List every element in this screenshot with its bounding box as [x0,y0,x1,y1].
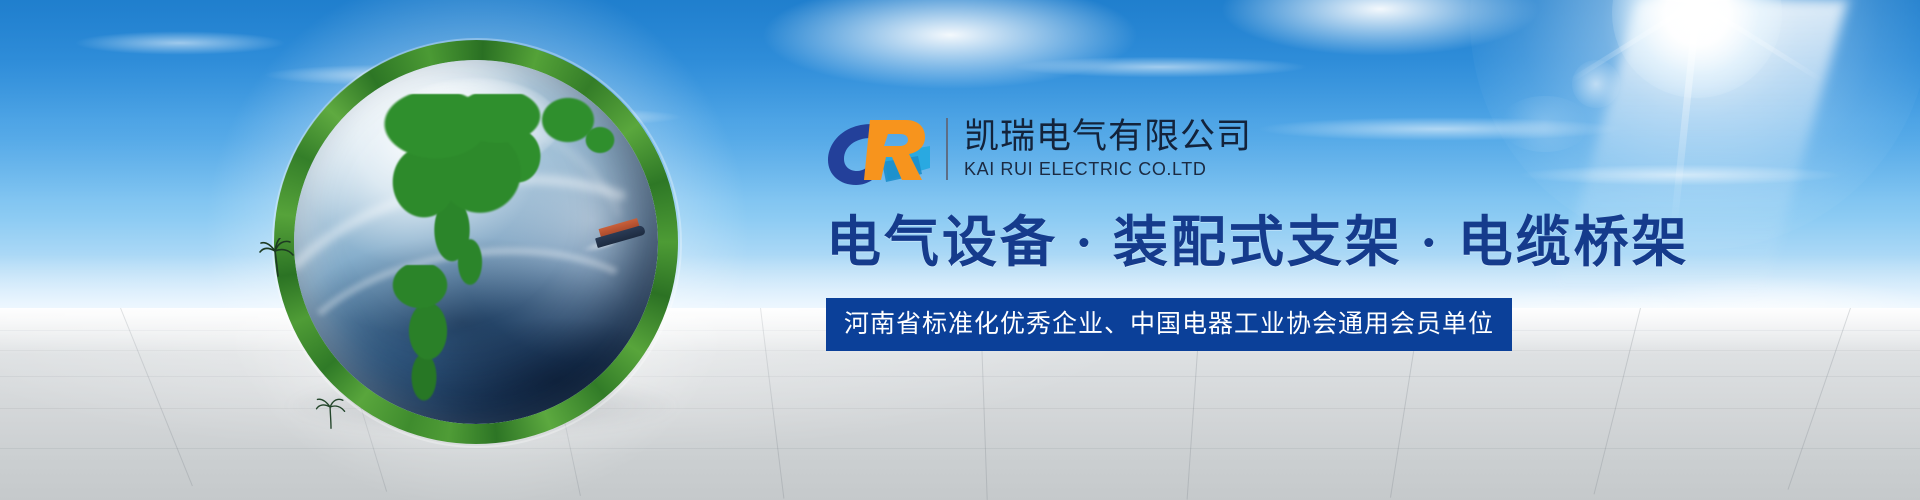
cr-logo-svg [826,112,938,186]
hero-banner: 凯瑞电气有限公司 KAI RUI ELECTRIC CO.LTD 电气设备 · … [0,0,1920,500]
lens-flare-dot [1572,60,1620,108]
banner-content: 凯瑞电气有限公司 KAI RUI ELECTRIC CO.LTD 电气设备 · … [826,110,1846,351]
brand-text-block: 凯瑞电气有限公司 KAI RUI ELECTRIC CO.LTD [964,117,1252,181]
company-name-en: KAI RUI ELECTRIC CO.LTD [964,157,1252,181]
green-earth-globe [262,24,692,454]
company-name-cn: 凯瑞电气有限公司 [964,117,1252,157]
brand-divider [946,118,948,180]
brand-lockup: 凯瑞电气有限公司 KAI RUI ELECTRIC CO.LTD [826,110,1846,188]
globe-rim-light [272,38,682,448]
cr-monogram-logo [826,112,938,186]
slogan-text: 电气设备 · 装配式支架 · 电缆桥架 [826,210,1846,276]
award-badge: 河南省标准化优秀企业、中国电器工业协会通用会员单位 [826,298,1512,351]
